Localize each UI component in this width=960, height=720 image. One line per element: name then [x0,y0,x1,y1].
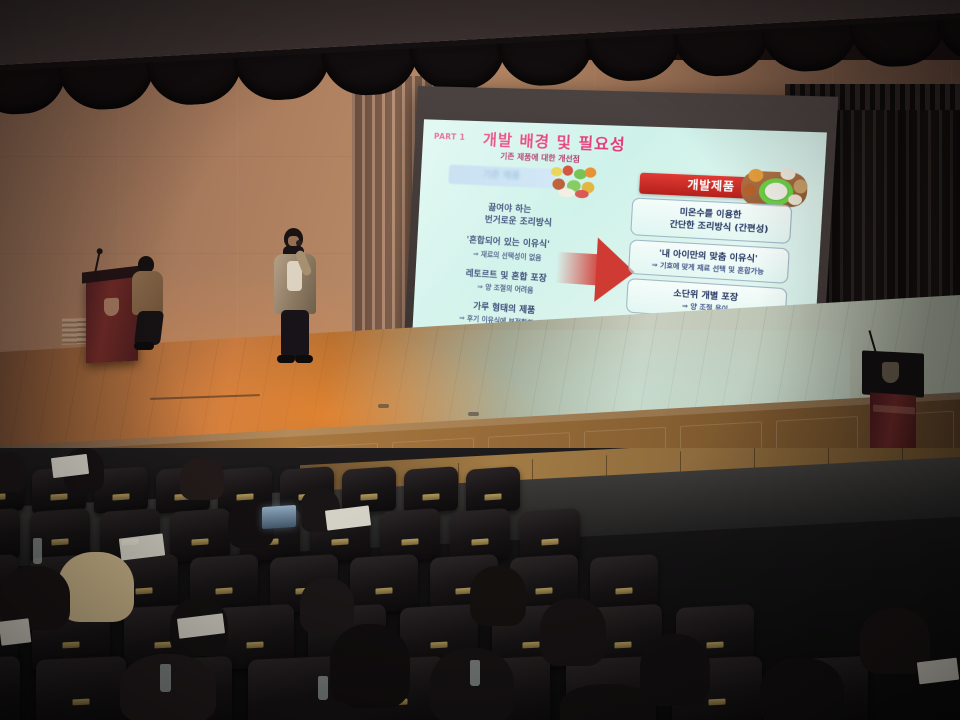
brass-seat-number-plate [616,588,633,595]
water-bottle [160,664,171,692]
brass-seat-number-plate [709,698,726,705]
vegetable-blob [551,167,563,177]
water-bottle [318,676,328,700]
vegetable-blob [562,165,573,176]
water-bottle [33,538,42,564]
brass-seat-number-plate [523,642,540,649]
audience-member [470,566,526,626]
brass-seat-number-plate [0,493,6,500]
handout-paper [0,618,31,645]
brass-seat-number-plate [423,493,440,500]
water-bottle [470,660,480,686]
photo-scene: PART 1 개발 배경 및 필요성 기존 제품에 대한 개선점 기존 제품 끓… [0,0,960,720]
seat [450,508,510,562]
brass-seat-number-plate [113,493,130,500]
brass-seat-number-plate [247,642,264,649]
brass-seat-number-plate [361,493,378,500]
valance-scallop [497,39,595,88]
vegetables-photo [543,162,604,202]
valance-scallop [234,53,332,102]
right-arrow-icon [554,235,636,304]
valance-scallop [761,25,859,74]
seat [404,466,458,514]
valance-scallop [585,34,683,83]
brass-seat-number-plate [707,642,724,649]
brass-seat-number-plate [136,588,153,595]
audience-member [760,658,844,720]
brass-seat-number-plate [51,493,68,500]
vegetable-blob [575,190,589,199]
developed-product-item: 미온수를 이용한간단한 조리방식 (간편성) [630,197,792,243]
developed-product-item: '내 아이만의 맞춤 이유식'⇒ 기호에 맞게 재료 선택 및 혼합가능 [628,239,790,284]
valance-scallop [146,58,244,107]
existing-product-header-label: 기존 제품 [448,165,555,189]
floor-marker [468,412,479,416]
slide-part-tag: PART 1 [434,132,466,142]
existing-product-item: 끓여야 하는번거로운 조리방식 [434,198,587,231]
presenter-with-microphone [272,228,318,368]
brass-seat-number-plate [63,642,80,649]
seat [466,466,520,514]
seat [170,508,230,562]
audience-member [560,684,656,720]
vegetable-blob [558,188,575,198]
audience-member [0,452,26,492]
existing-product-header: 기존 제품 [448,165,555,189]
valance-scallop [849,20,947,69]
brass-seat-number-plate [615,642,632,649]
valance-scallop [58,63,156,112]
seat [36,656,126,720]
brass-seat-number-plate [485,493,502,500]
seat [0,656,20,720]
valance-scallop [321,48,419,97]
audience-member [330,624,410,708]
floor-marker [378,404,389,408]
brass-seat-number-plate [472,538,489,545]
seated-person-at-podium [132,256,166,352]
brass-seat-number-plate [52,538,69,545]
brass-seat-number-plate [376,588,393,595]
brass-seat-number-plate [402,538,419,545]
audience-member [180,458,224,500]
brass-seat-number-plate [542,538,559,545]
brass-seat-number-plate [431,642,448,649]
audience-member [300,578,354,634]
brass-seat-number-plate [73,698,90,705]
audience-laptop [262,505,296,529]
audience-member [540,598,606,666]
vegetable-blob [584,167,596,178]
university-crest-left [104,298,119,317]
brass-seat-number-plate [192,538,209,545]
valance-scallop [673,29,771,78]
brass-seat-number-plate [536,588,553,595]
brass-seat-number-plate [155,642,172,649]
brass-seat-number-plate [216,588,233,595]
audience-area [0,448,960,720]
brass-seat-number-plate [332,538,349,545]
podium-left [86,277,138,364]
university-crest-right [882,362,899,383]
handheld-microphone-icon [296,240,302,246]
